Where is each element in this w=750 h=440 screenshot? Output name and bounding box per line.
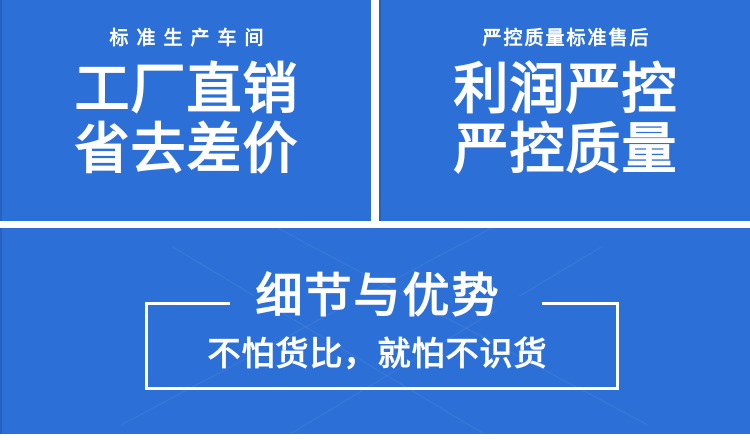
panel-headline-line2-factory-direct: 省去差价	[74, 120, 298, 178]
panel-headline-line1-factory-direct: 工厂直销	[74, 60, 298, 118]
panel-kicker-factory-direct: 标准生产车间	[101, 29, 271, 48]
panel-kicker-quality-control: 严控质量标准售后	[480, 29, 650, 48]
feature-panel-row: 标准生产车间 工厂直销 省去差价 严控质量标准售后 利润严控 严控质量	[0, 0, 750, 221]
details-advantages-banner: 细节与优势 不怕货比，就怕不识货	[0, 228, 750, 434]
panel-headline-line2-quality-control: 严控质量	[453, 120, 677, 178]
feature-panel-quality-control: 严控质量标准售后 利润严控 严控质量	[379, 0, 750, 221]
promo-banner: 标准生产车间 工厂直销 省去差价 严控质量标准售后 利润严控 严控质量 细节与优…	[0, 0, 750, 440]
panel-headline-line1-quality-control: 利润严控	[453, 60, 677, 118]
feature-panel-factory-direct: 标准生产车间 工厂直销 省去差价	[0, 0, 371, 221]
banner-subtitle: 不怕货比，就怕不识货	[2, 337, 750, 370]
banner-title: 细节与优势	[2, 272, 750, 319]
